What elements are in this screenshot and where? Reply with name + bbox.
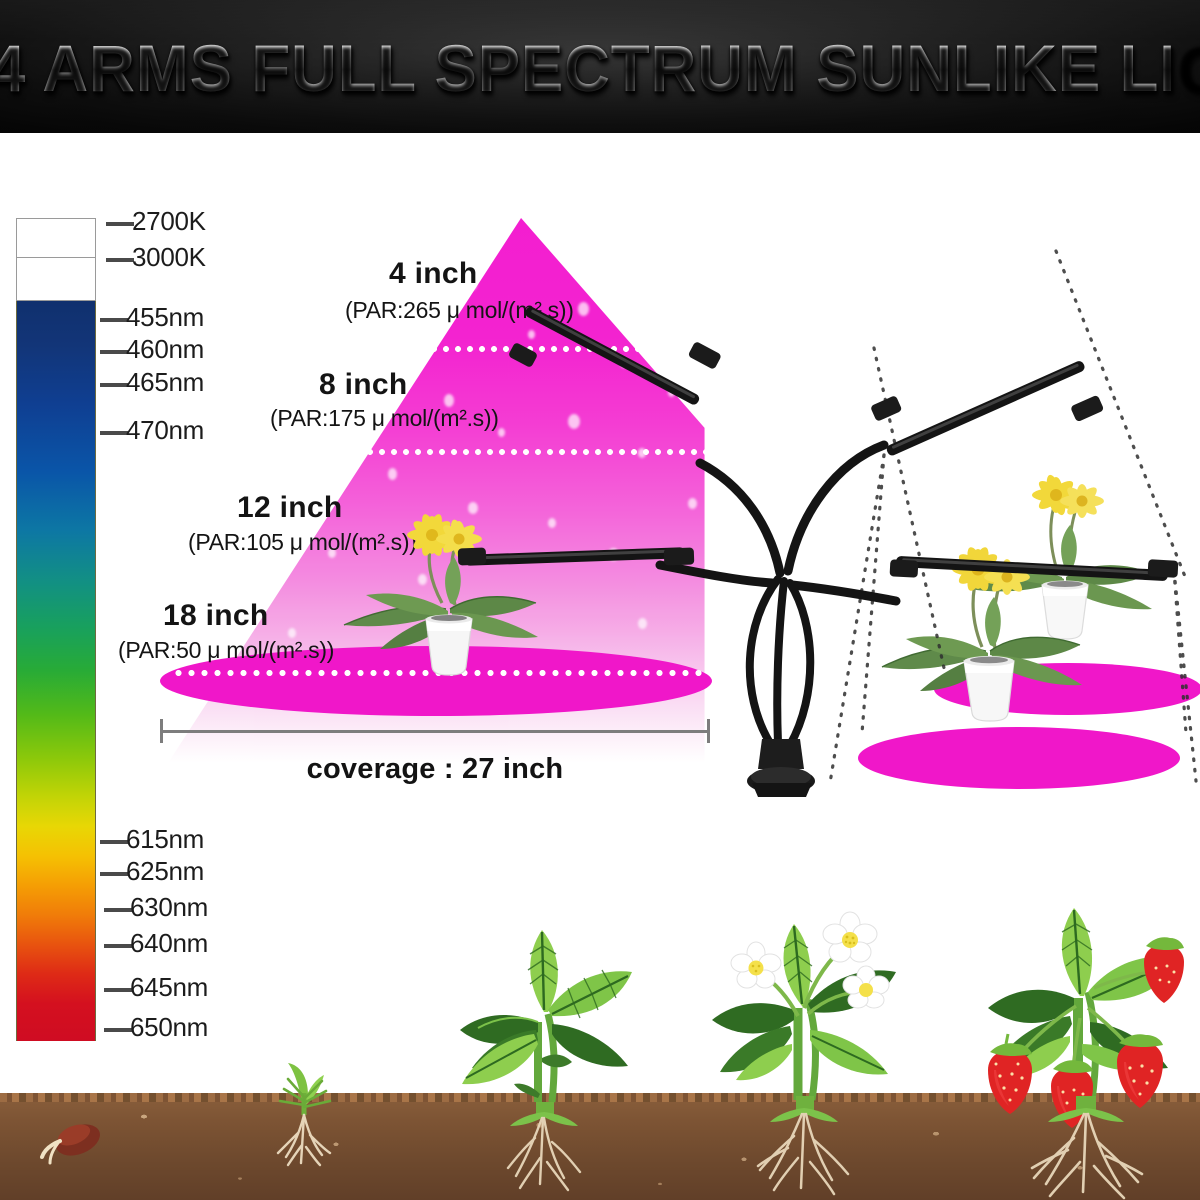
page-title: 4 ARMS FULL SPECTRUM SUNLIKE LIGH — [0, 30, 1171, 106]
strawberry — [1144, 937, 1184, 1003]
clamp-base — [747, 739, 815, 797]
led-bar-right — [890, 556, 1179, 581]
led-bar-top-left — [508, 305, 722, 406]
growth-stage-leafy-plant — [430, 862, 660, 1200]
flower — [731, 942, 781, 988]
growth-stage-flowering-plant — [680, 848, 930, 1200]
led-bar-top-right — [870, 360, 1104, 457]
flower — [823, 912, 877, 962]
growth-stage-sprout — [240, 1035, 370, 1200]
growth-stage-seed — [30, 1085, 170, 1200]
header-banner: 4 ARMS FULL SPECTRUM SUNLIKE LIGH — [0, 0, 1200, 133]
beam-guides — [830, 251, 1196, 783]
growth-stage-fruiting-plant — [950, 838, 1200, 1200]
